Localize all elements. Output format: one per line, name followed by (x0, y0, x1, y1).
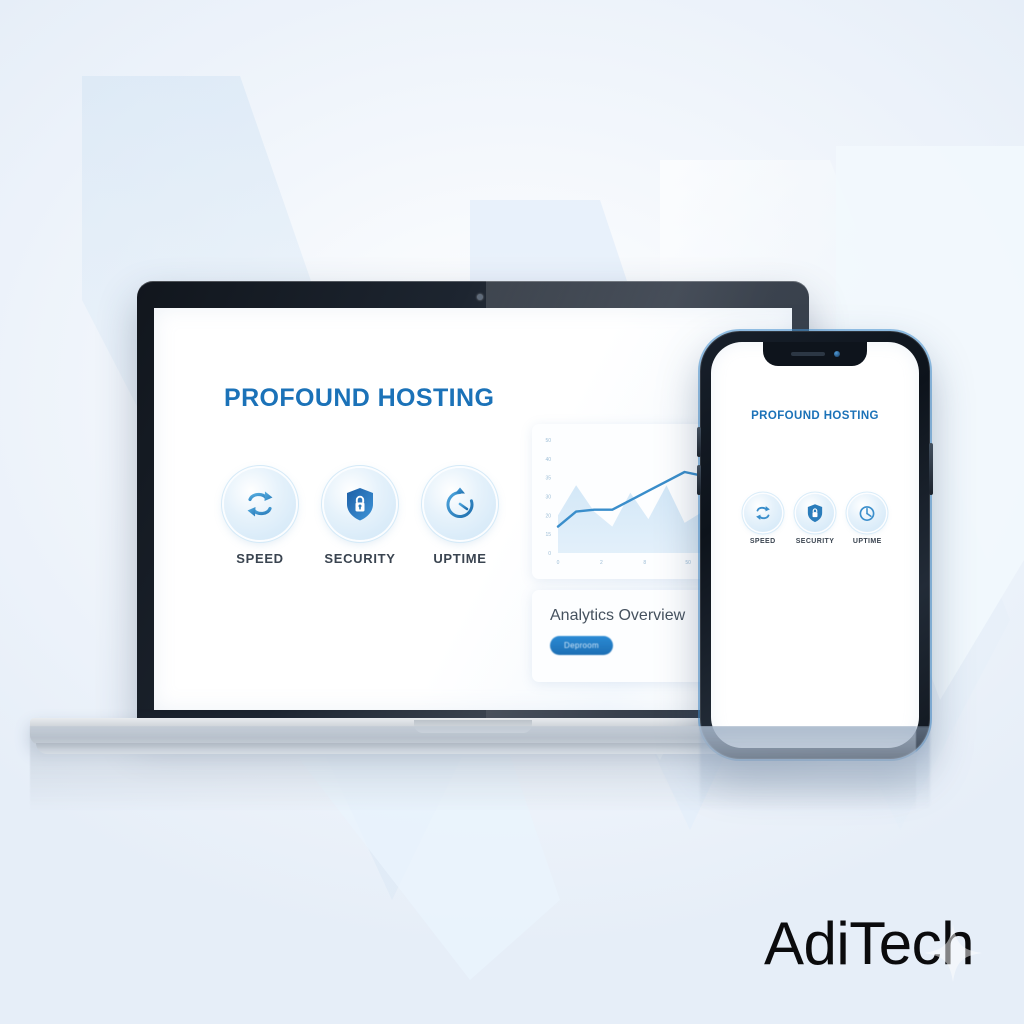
phone-feature-label-uptime: UPTIME (853, 538, 882, 545)
page-title: PROFOUND HOSTING (224, 384, 494, 413)
shield-lock-icon (340, 484, 380, 524)
clock-uptime-icon (440, 484, 480, 524)
phone-feature-speed[interactable]: SPEED (744, 494, 782, 545)
feature-label-speed: SPEED (236, 551, 284, 566)
earpiece-speaker-icon (791, 352, 825, 356)
feature-security[interactable]: SECURITY (324, 468, 396, 566)
svg-text:2: 2 (600, 560, 603, 566)
svg-text:20: 20 (545, 513, 551, 519)
phone-security-icon-ring (796, 494, 834, 532)
front-camera-icon (834, 351, 840, 357)
clock-uptime-icon (856, 502, 878, 524)
phone-uptime-icon-ring (848, 494, 886, 532)
laptop-base-lip (414, 720, 532, 733)
svg-text:30: 30 (545, 495, 551, 501)
phone-feature-security[interactable]: SECURITY (796, 494, 835, 545)
phone-device: PROFOUND HOSTING SPEED (700, 331, 930, 759)
speed-icon-ring (224, 468, 296, 540)
feature-speed[interactable]: SPEED (224, 468, 296, 566)
svg-text:50: 50 (685, 560, 691, 566)
feature-uptime[interactable]: UPTIME (424, 468, 496, 566)
svg-text:8: 8 (643, 560, 646, 566)
phone-volume-up-button[interactable] (697, 427, 701, 457)
phone-feature-uptime[interactable]: UPTIME (848, 494, 886, 545)
phone-screen[interactable]: PROFOUND HOSTING SPEED (711, 342, 919, 748)
svg-text:40: 40 (545, 457, 551, 463)
phone-feature-list: SPEED SECURITY (711, 494, 919, 545)
feature-label-uptime: UPTIME (433, 551, 486, 566)
phone-speed-icon-ring (744, 494, 782, 532)
sparkle-icon (918, 918, 988, 988)
webcam-icon (477, 294, 483, 300)
overview-action-pill[interactable]: Deproom (550, 636, 613, 655)
svg-text:0: 0 (548, 551, 551, 557)
svg-text:35: 35 (545, 476, 551, 482)
promo-mockup-scene: PROFOUND HOSTING (0, 0, 1024, 1024)
phone-feature-label-security: SECURITY (796, 538, 835, 545)
svg-text:50: 50 (545, 438, 551, 444)
security-icon-ring (324, 468, 396, 540)
svg-text:15: 15 (545, 532, 551, 538)
shield-lock-icon (804, 502, 826, 524)
svg-text:0: 0 (557, 560, 560, 566)
phone-feature-label-speed: SPEED (750, 538, 776, 545)
sync-arrows-icon (240, 484, 280, 524)
feature-label-security: SECURITY (324, 551, 395, 566)
phone-notch (763, 342, 867, 366)
phone-power-button[interactable] (929, 443, 933, 495)
uptime-icon-ring (424, 468, 496, 540)
phone-volume-down-button[interactable] (697, 465, 701, 495)
phone-page-title: PROFOUND HOSTING (711, 410, 919, 422)
sync-arrows-icon (752, 502, 774, 524)
laptop-screen[interactable]: PROFOUND HOSTING (154, 308, 792, 710)
feature-list: SPEED (224, 468, 496, 566)
overview-title: Analytics Overview (550, 607, 685, 625)
